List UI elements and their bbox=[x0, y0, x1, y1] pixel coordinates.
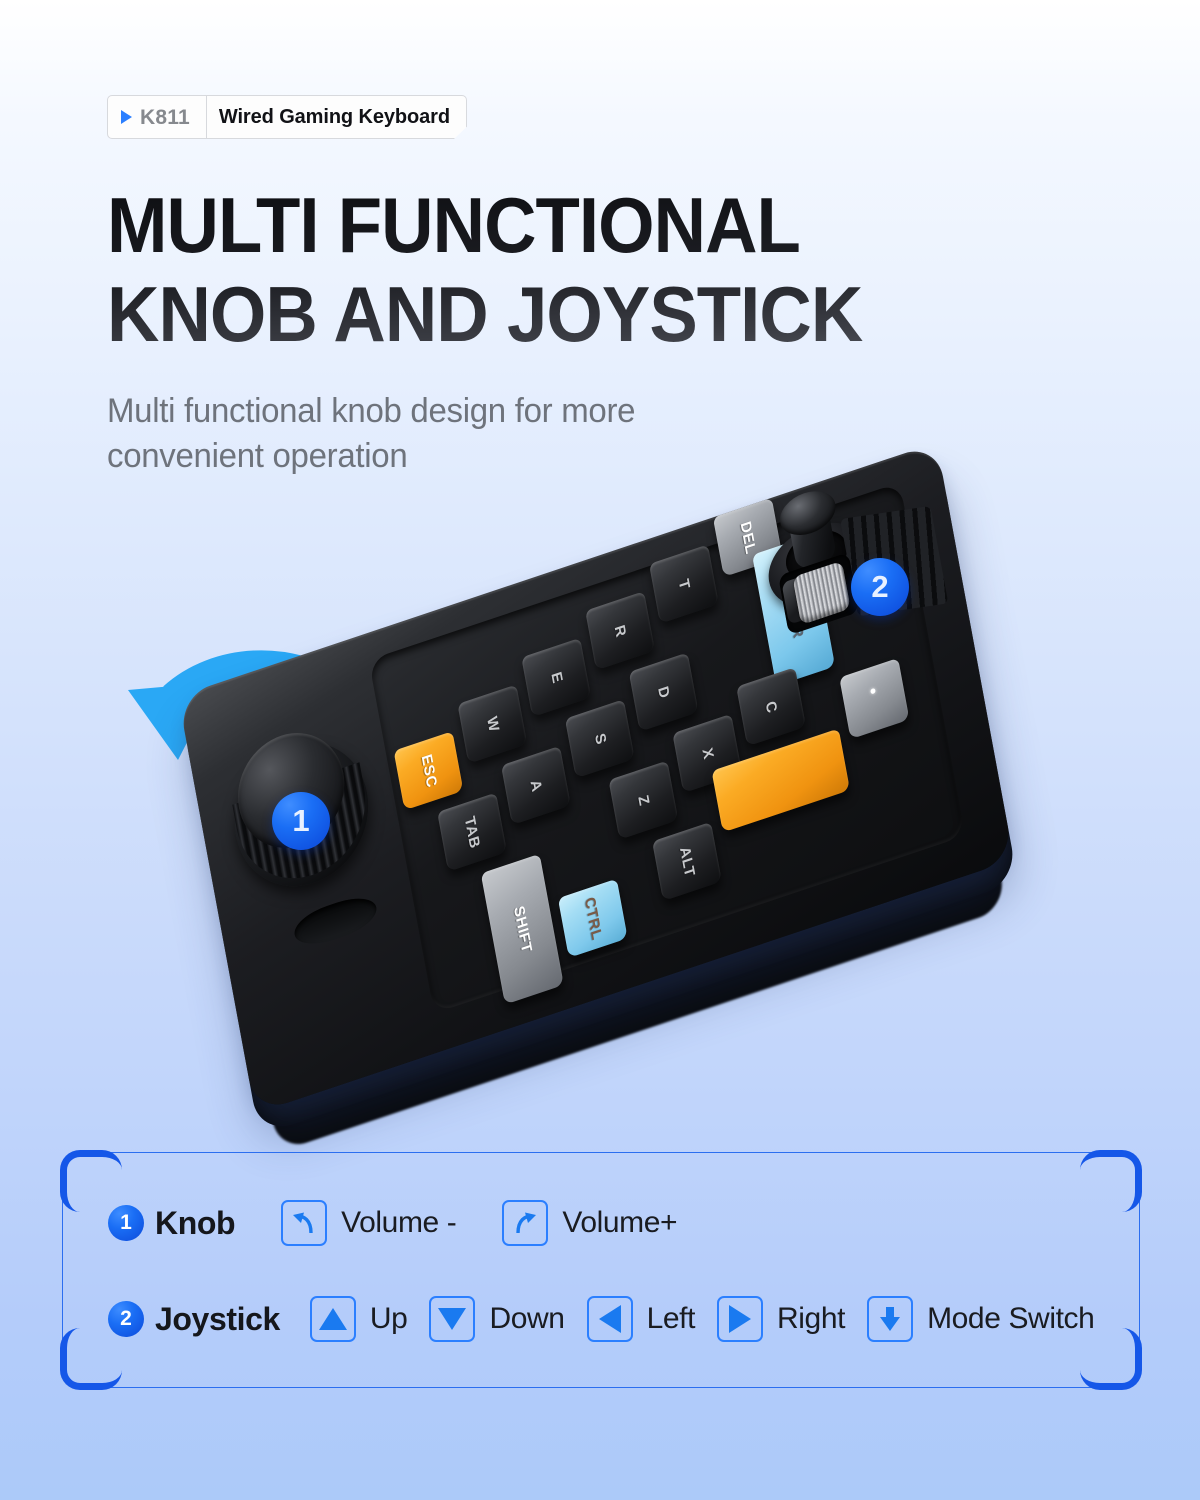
callout-badge-1: 1 bbox=[272, 792, 330, 850]
corner-bracket-top-right bbox=[1080, 1150, 1142, 1212]
keycap-ctrl[interactable]: CTRL bbox=[558, 879, 628, 958]
product-type-label: Wired Gaming Keyboard bbox=[219, 107, 450, 127]
keycap-d[interactable]: D bbox=[629, 652, 699, 731]
triangle-up-icon[interactable] bbox=[310, 1296, 356, 1342]
legend-title-knob: Knob bbox=[155, 1205, 235, 1242]
keycap-w[interactable]: W bbox=[457, 684, 527, 763]
keycap-z[interactable]: Z bbox=[608, 760, 678, 839]
triangle-up-glyph bbox=[319, 1308, 347, 1330]
keycap-r[interactable]: R bbox=[585, 591, 655, 670]
triangle-left-icon[interactable] bbox=[587, 1296, 633, 1342]
legend-label-up: Up bbox=[370, 1302, 408, 1336]
legend-row-joystick: 2 Joystick Up Down Left Right Mode Switc… bbox=[108, 1296, 1094, 1342]
page-title: MULTI FUNCTIONAL KNOB AND JOYSTICK bbox=[107, 181, 1037, 359]
keycap-alt[interactable]: ALT bbox=[652, 822, 722, 901]
triangle-left-glyph bbox=[599, 1305, 621, 1333]
keycap-shift[interactable]: SHIFT bbox=[481, 854, 564, 1005]
product-scene: ESC W E R T DEL TAB A S D ENTER bbox=[0, 520, 1200, 1120]
model-badge-label: K811 bbox=[140, 107, 190, 128]
keycap-e[interactable]: E bbox=[521, 638, 591, 717]
play-triangle-icon bbox=[121, 110, 132, 124]
callout-badge-2: 2 bbox=[851, 558, 909, 616]
legend-border bbox=[62, 1152, 1140, 1388]
product-badge-row: K811 Wired Gaming Keyboard bbox=[107, 95, 1107, 139]
arrow-curve-right-icon[interactable] bbox=[502, 1200, 548, 1246]
legend-label-mode-switch: Mode Switch bbox=[927, 1302, 1094, 1336]
arrow-down-press-icon[interactable] bbox=[867, 1296, 913, 1342]
triangle-down-icon[interactable] bbox=[429, 1296, 475, 1342]
scroll-wheel-slot bbox=[778, 552, 859, 635]
arrow-curve-left-icon[interactable] bbox=[281, 1200, 327, 1246]
model-badge: K811 bbox=[107, 95, 207, 139]
legend-label-left: Left bbox=[647, 1302, 695, 1336]
triangle-down-glyph bbox=[438, 1308, 466, 1330]
legend-title-joystick: Joystick bbox=[155, 1301, 280, 1338]
legend-row-knob: 1 Knob Volume - Volume+ bbox=[108, 1200, 677, 1246]
keyboard-product-image: ESC W E R T DEL TAB A S D ENTER bbox=[178, 443, 1014, 1114]
scroll-wheel[interactable] bbox=[792, 561, 850, 625]
legend-badge-1: 1 bbox=[108, 1205, 144, 1241]
legend-badge-2: 2 bbox=[108, 1301, 144, 1337]
keycap-a[interactable]: A bbox=[501, 746, 571, 825]
triangle-right-icon[interactable] bbox=[717, 1296, 763, 1342]
legend-panel: 1 Knob Volume - Volume+ 2 Joystick Up bbox=[62, 1152, 1140, 1388]
page-header: K811 Wired Gaming Keyboard MULTI FUNCTIO… bbox=[107, 95, 1107, 479]
keycap-esc[interactable]: ESC bbox=[394, 731, 464, 810]
legend-label-right: Right bbox=[777, 1302, 845, 1336]
keycap-s[interactable]: S bbox=[565, 699, 635, 778]
legend-label-volume-up: Volume+ bbox=[562, 1206, 677, 1240]
keycap-tab[interactable]: TAB bbox=[437, 792, 507, 871]
legend-label-down: Down bbox=[489, 1302, 564, 1336]
legend-label-volume-down: Volume - bbox=[341, 1206, 456, 1240]
knob-slot bbox=[292, 891, 380, 952]
product-type-badge: Wired Gaming Keyboard bbox=[201, 95, 467, 139]
triangle-right-glyph bbox=[729, 1305, 751, 1333]
